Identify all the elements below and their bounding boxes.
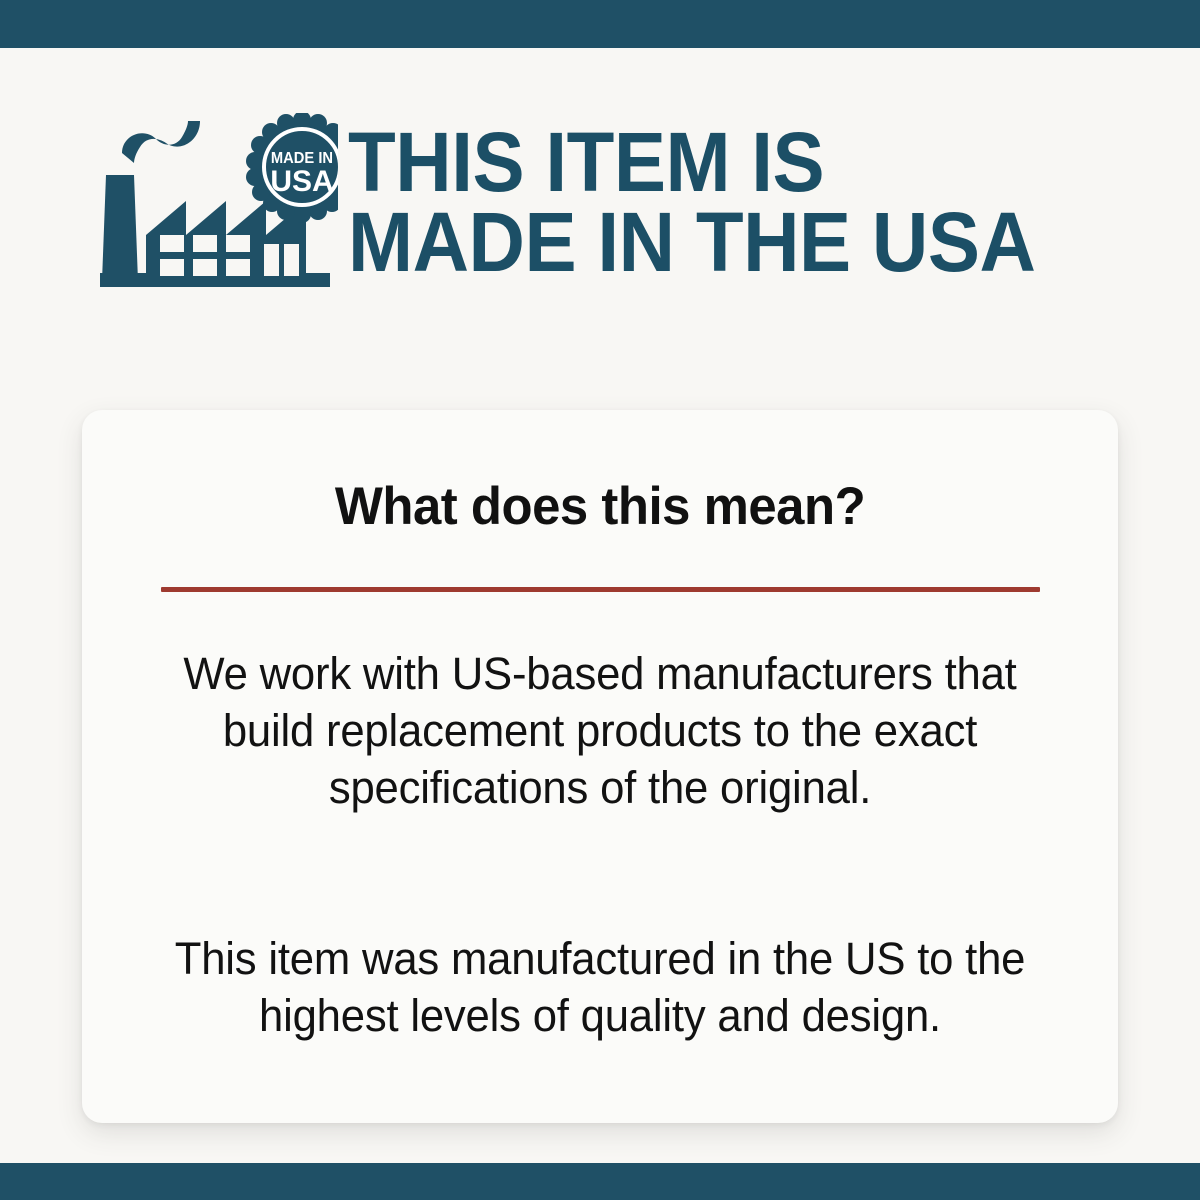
bottom-accent-bar [0, 1163, 1200, 1200]
factory-window [226, 235, 250, 252]
factory-door-panel [264, 244, 279, 276]
factory-door-panel [284, 244, 299, 276]
top-accent-bar [0, 0, 1200, 48]
factory-window [160, 259, 184, 276]
card-title: What does this mean? [103, 476, 1098, 537]
info-card: What does this mean? We work with US-bas… [82, 410, 1118, 1123]
factory-icon: MADE IN USA [100, 113, 338, 293]
card-divider [161, 587, 1040, 592]
factory-logo: MADE IN USA [100, 113, 338, 293]
smoke-shape [122, 121, 200, 163]
badge-line2: USA [270, 165, 333, 198]
headline-line-2: MADE IN THE USA [348, 203, 1035, 283]
card-paragraph-1: We work with US-based manufacturers that… [156, 645, 1045, 816]
chimney-shape [102, 175, 138, 281]
header: MADE IN USA THIS ITEM IS MADE IN THE USA [100, 103, 1150, 303]
page-title: THIS ITEM IS MADE IN THE USA [348, 123, 1035, 283]
factory-window [226, 259, 250, 276]
factory-window [193, 235, 217, 252]
page-surface: MADE IN USA THIS ITEM IS MADE IN THE USA… [0, 48, 1200, 1163]
factory-window [193, 259, 217, 276]
factory-window [160, 235, 184, 252]
card-paragraph-2: This item was manufactured in the US to … [156, 930, 1045, 1044]
headline-line-1: THIS ITEM IS [348, 123, 1035, 203]
